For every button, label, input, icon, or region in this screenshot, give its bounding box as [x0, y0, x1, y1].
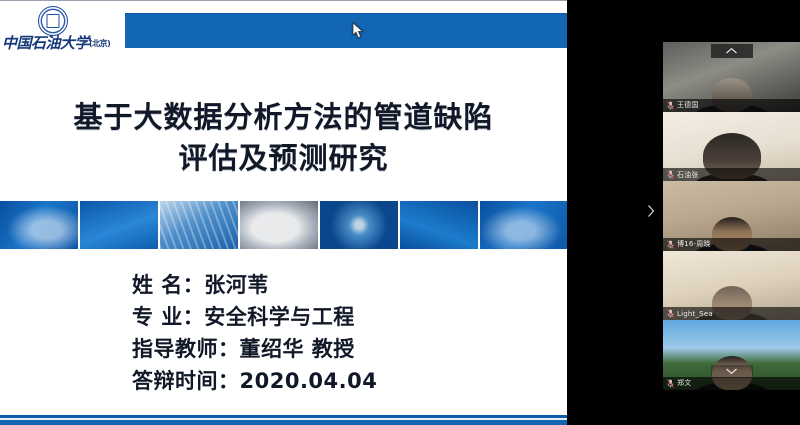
- microphone-muted-icon: [667, 101, 674, 110]
- participant-tile-1[interactable]: 王德国: [663, 42, 800, 112]
- participant-filmstrip[interactable]: 王德国 石油张: [663, 42, 800, 390]
- info-row-supervisor: 指导教师：董绍华 教授: [132, 334, 377, 366]
- microphone-muted-icon: [667, 309, 674, 318]
- pointer-cursor: [352, 22, 365, 39]
- decor-panel-handshake: [240, 201, 318, 249]
- participant-name-2: 石油张: [677, 170, 699, 180]
- participant-name-bar-1: 王德国: [663, 99, 800, 112]
- decor-panel-gradient-2: [400, 201, 478, 249]
- info-row-major: 专 业：安全科学与工程: [132, 302, 377, 334]
- shared-screen-slide[interactable]: 中国石油大学(北京) 基于大数据分析方法的管道缺陷 评估及预测研究 姓 名：张河…: [0, 0, 567, 425]
- participant-tile-4[interactable]: Light_Sea: [663, 251, 800, 321]
- university-name: 中国石油大学(北京): [2, 32, 127, 53]
- participant-tile-5[interactable]: 郑文: [663, 320, 800, 390]
- microphone-muted-icon: [667, 170, 674, 179]
- decor-panel-buildings: [160, 201, 238, 249]
- decor-panel-globe-2: [320, 201, 398, 249]
- decor-panel-globe-1: [0, 201, 78, 249]
- participant-name-3: 博16-周晓: [677, 239, 711, 249]
- participant-name-1: 王德国: [677, 100, 699, 110]
- participant-tile-2[interactable]: 石油张: [663, 112, 800, 182]
- presenter-info: 姓 名：张河苇 专 业：安全科学与工程 指导教师：董绍华 教授 答辩时间：202…: [132, 270, 377, 398]
- university-logo: 中国石油大学(北京): [2, 4, 127, 56]
- info-row-date: 答辩时间：2020.04.04: [132, 366, 377, 398]
- participant-name-bar-5: 郑文: [663, 377, 800, 390]
- slide-title-line-1: 基于大数据分析方法的管道缺陷: [0, 97, 567, 138]
- slide-title-line-2: 评估及预测研究: [0, 138, 567, 179]
- decor-panel-gradient-1: [80, 201, 158, 249]
- participant-name-bar-4: Light_Sea: [663, 307, 800, 320]
- participant-name-bar-3: 博16-周晓: [663, 238, 800, 251]
- microphone-muted-icon: [667, 379, 674, 388]
- page-title: 基于大数据分析方法的管道缺陷 评估及预测研究: [0, 97, 567, 179]
- participant-name-bar-2: 石油张: [663, 168, 800, 181]
- chevron-up-icon[interactable]: [711, 44, 753, 58]
- slide-footer-bar: [0, 415, 567, 425]
- meeting-screen: 中国石油大学(北京) 基于大数据分析方法的管道缺陷 评估及预测研究 姓 名：张河…: [0, 0, 800, 425]
- info-row-name: 姓 名：张河苇: [132, 270, 377, 302]
- university-name-text: 中国石油大学: [2, 34, 89, 52]
- decor-panel-globe-3: [480, 201, 567, 249]
- microphone-muted-icon: [667, 240, 674, 249]
- decorative-image-strip: [0, 201, 567, 249]
- university-campus-text: (北京): [89, 39, 110, 48]
- chevron-right-icon[interactable]: [645, 203, 657, 219]
- participant-name-4: Light_Sea: [677, 310, 713, 318]
- slide-header-bar: [125, 13, 567, 48]
- participant-tile-3[interactable]: 博16-周晓: [663, 181, 800, 251]
- slide-top-rule: [0, 0, 567, 3]
- participant-name-5: 郑文: [677, 378, 691, 388]
